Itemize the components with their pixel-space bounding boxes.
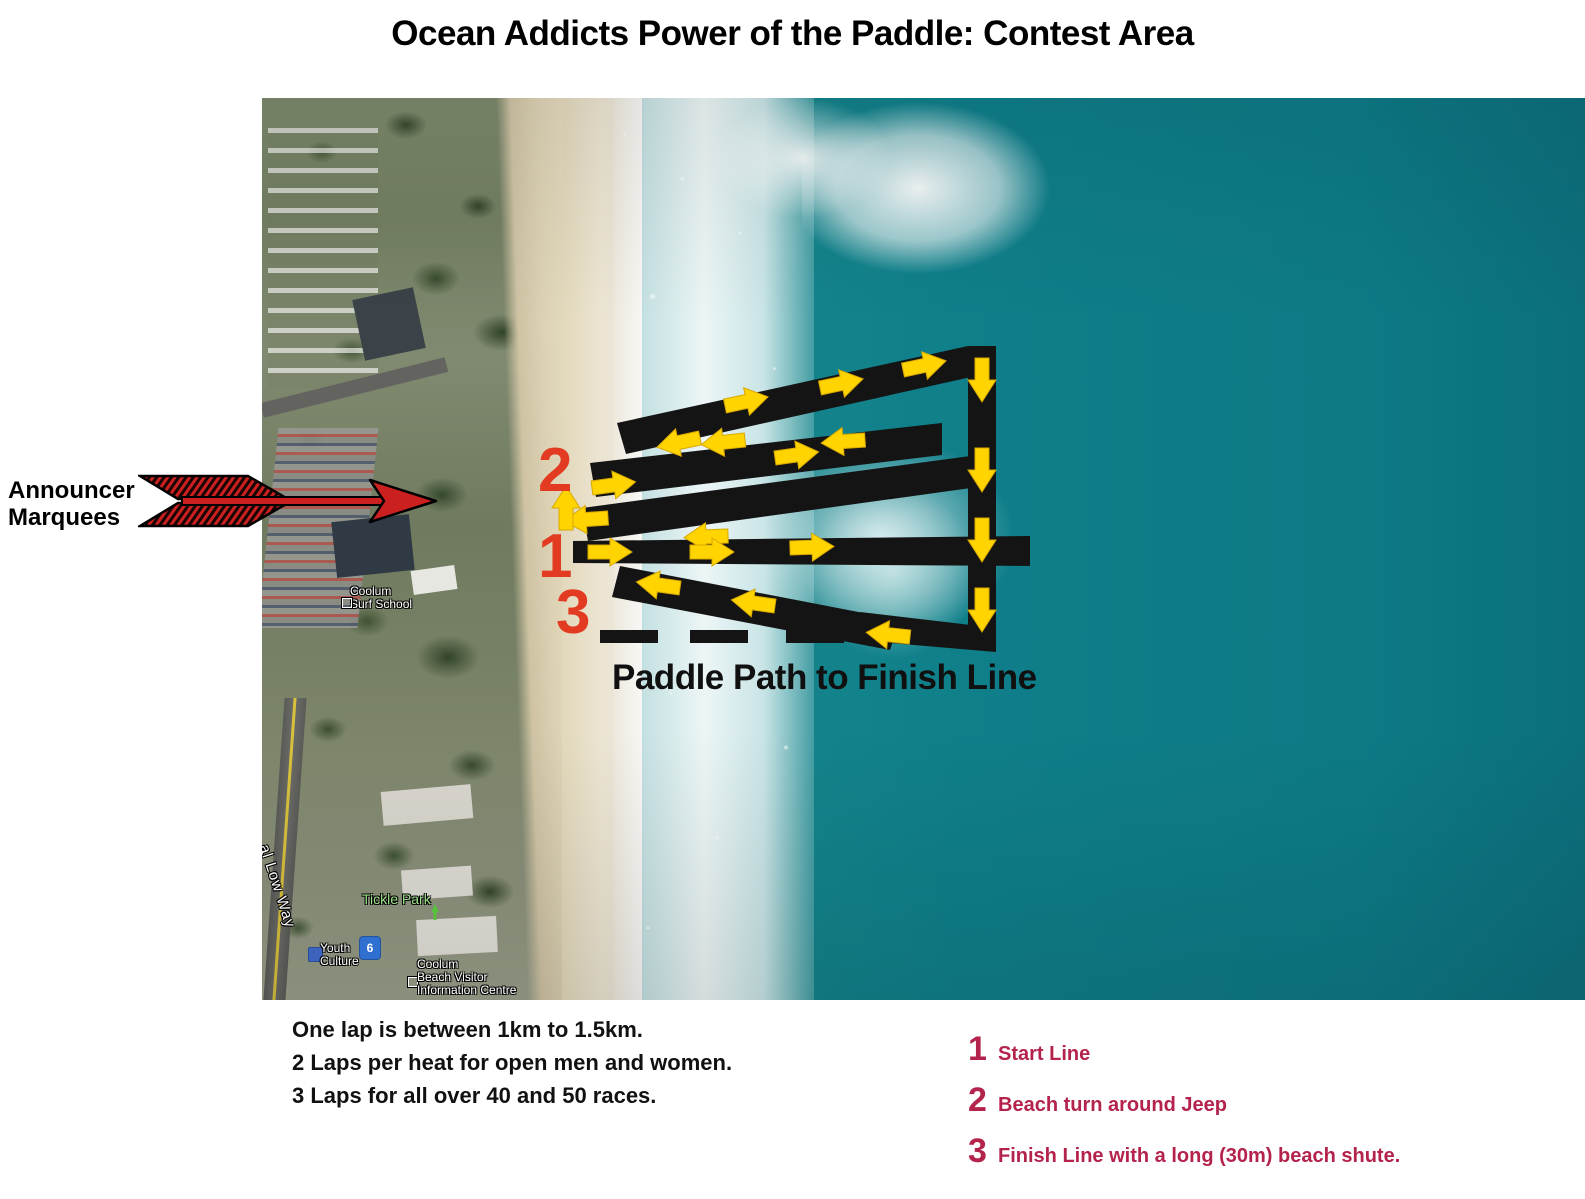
legend-item-finish-line: 3 Finish Line with a long (30m) beach sh… [968,1134,1568,1168]
legend-label: Finish Line with a long (30m) beach shut… [998,1144,1400,1168]
legend-label: Start Line [998,1042,1090,1066]
aerial-map-photo: Coolum Surf School Tickle Park Youth Cul… [262,98,1585,1000]
map-label-coolum-surf-school: Coolum Surf School [350,585,412,611]
page-title: Ocean Addicts Power of the Paddle: Conte… [0,14,1585,54]
race-note-line: One lap is between 1km to 1.5km. [292,1013,732,1046]
race-note-line: 2 Laps per heat for open men and women. [292,1046,732,1079]
announcer-pointer-arrow-icon [138,470,438,532]
map-marker-surf-school [342,598,352,608]
paddle-path-caption: Paddle Path to Finish Line [612,658,1037,698]
race-note-line: 3 Laps for all over 40 and 50 races. [292,1079,732,1112]
announcer-marquees-label: Announcer Marquees [8,477,135,531]
legend-item-start-line: 1 Start Line [968,1032,1568,1066]
legend-number: 3 [968,1134,998,1168]
course-number-2-beach-turn: 2 [538,440,572,502]
ocean-shading [262,98,1585,1000]
legend-number: 1 [968,1032,998,1066]
map-label-youth-culture: Youth Culture [320,942,359,968]
race-notes: One lap is between 1km to 1.5km. 2 Laps … [292,1013,732,1112]
map-label-tickle-park: Tickle Park [362,893,431,906]
map-label-visitor-centre: Coolum Beach Visitor Information Centre [417,958,516,997]
legend-number: 2 [968,1083,998,1117]
course-legend: 1 Start Line 2 Beach turn around Jeep 3 … [968,1032,1568,1185]
legend-label: Beach turn around Jeep [998,1093,1227,1117]
course-number-3-finish: 3 [556,582,590,644]
legend-item-beach-turn: 2 Beach turn around Jeep [968,1083,1568,1117]
route-shield-6: 6 [359,936,381,960]
